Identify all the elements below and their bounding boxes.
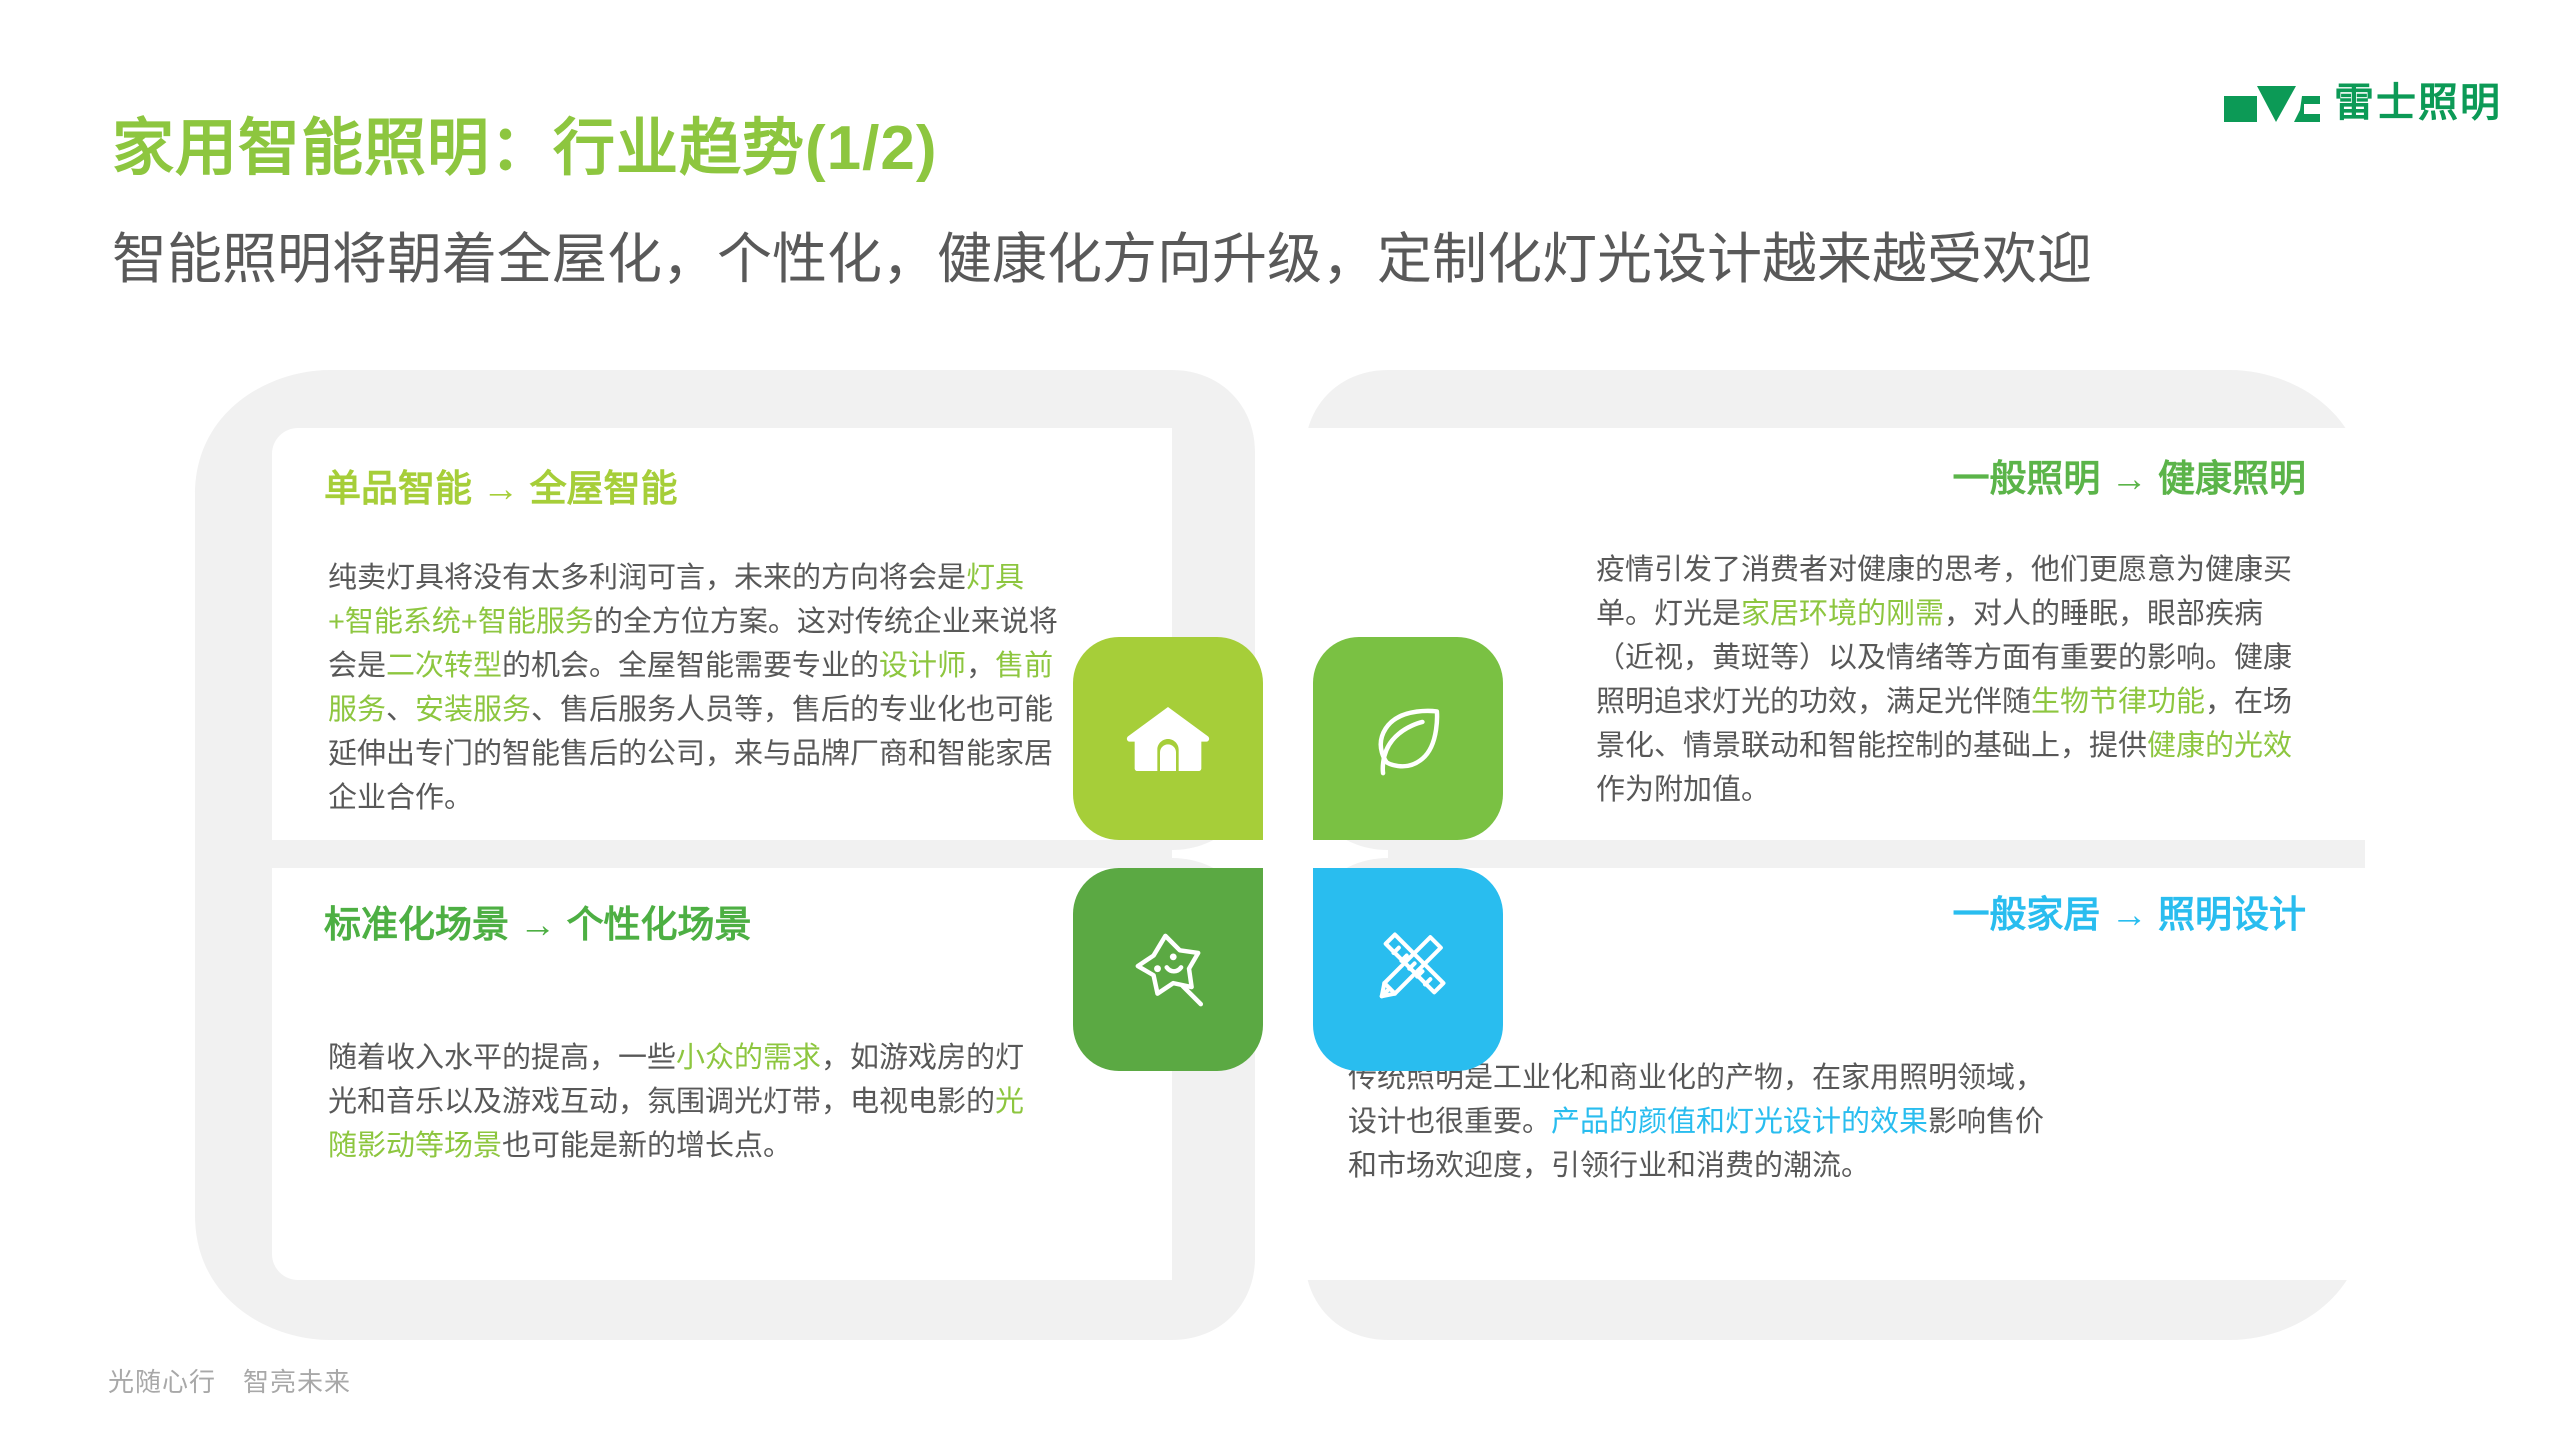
card-heading: 一般家居 → 照明设计 (1952, 896, 2306, 933)
text-run: 作为附加值。 (1596, 774, 1770, 806)
tile-leaf (1313, 637, 1503, 840)
heading-to: 健康照明 (2158, 458, 2306, 499)
card-whole-house-smart: 单品智能 → 全屋智能 纯卖灯具将没有太多利润可言，未来的方向将会是灯具+智能系… (272, 428, 1172, 840)
magic-wand-icon (1126, 928, 1210, 1012)
text-run: 、 (386, 694, 415, 726)
heading-from: 一般家居 (1952, 894, 2100, 935)
arrow-icon: → (482, 468, 519, 509)
text-run: 纯卖灯具将没有太多利润可言，未来的方向将会是 (328, 562, 966, 594)
page-subtitle: 智能照明将朝着全屋化，个性化，健康化方向升级，定制化灯光设计越来越受欢迎 (112, 228, 2092, 291)
slide-root: 家用智能照明：行业趋势(1/2) 智能照明将朝着全屋化，个性化，健康化方向升级，… (0, 0, 2560, 1440)
text-run: 小众的需求 (676, 1042, 821, 1074)
ruler-pencil-icon (1366, 928, 1450, 1012)
logo-text: 雷士照明 (2334, 83, 2502, 123)
text-run: 二次转型 (386, 650, 502, 682)
footer-slogan: 光随心行 智亮未来 (108, 1362, 351, 1399)
card-body-text: 纯卖灯具将没有太多利润可言，未来的方向将会是灯具+智能系统+智能服务的全方位方案… (328, 556, 1068, 820)
arrow-icon: → (2111, 894, 2148, 935)
card-heading: 标准化场景 → 个性化场景 (324, 906, 752, 943)
brand-logo: 雷士照明 (2224, 82, 2502, 124)
heading-to: 全屋智能 (530, 468, 678, 509)
nvc-logo-icon (2224, 82, 2324, 124)
text-run: 的机会。全屋智能需要专业的 (502, 650, 879, 682)
text-run: 健康的光效 (2147, 730, 2292, 762)
text-run: ， (966, 650, 995, 682)
tile-home (1073, 637, 1263, 840)
tile-lighting-design (1313, 868, 1503, 1071)
text-run: 也可能是新的增长点。 (502, 1130, 792, 1162)
card-heading: 单品智能 → 全屋智能 (324, 470, 678, 507)
arrow-icon: → (519, 904, 556, 945)
heading-from: 单品智能 (324, 468, 472, 509)
card-body-text: 随着收入水平的提高，一些小众的需求，如游戏房的灯光和音乐以及游戏互动，氛围调光灯… (328, 1036, 1028, 1168)
page-title: 家用智能照明：行业趋势(1/2) (112, 118, 937, 180)
tile-magic-wand (1073, 868, 1263, 1071)
home-icon (1125, 699, 1211, 779)
text-run: 设计师 (879, 650, 966, 682)
arrow-icon: → (2111, 458, 2148, 499)
text-run: 家居环境的刚需 (1741, 598, 1944, 630)
text-run: 随着收入水平的提高，一些 (328, 1042, 676, 1074)
heading-to: 照明设计 (2158, 894, 2306, 935)
text-run: 生物节律功能 (2031, 686, 2205, 718)
card-personalized-scene: 标准化场景 → 个性化场景 随着收入水平的提高，一些小众的需求，如游戏房的灯光和… (272, 868, 1172, 1280)
card-body-text: 传统照明是工业化和商业化的产物，在家用照明领域，设计也很重要。产品的颜值和灯光设… (1348, 1056, 2048, 1188)
card-body-text: 疫情引发了消费者对健康的思考，他们更愿意为健康买单。灯光是家居环境的刚需，对人的… (1596, 548, 2306, 812)
heading-from: 标准化场景 (324, 904, 509, 945)
text-run: 产品的颜值和灯光设计的效果 (1551, 1106, 1928, 1138)
card-heading: 一般照明 → 健康照明 (1952, 460, 2306, 497)
leaf-icon (1366, 697, 1450, 781)
heading-to: 个性化场景 (567, 904, 752, 945)
text-run: 安装服务 (415, 694, 531, 726)
heading-from: 一般照明 (1952, 458, 2100, 499)
